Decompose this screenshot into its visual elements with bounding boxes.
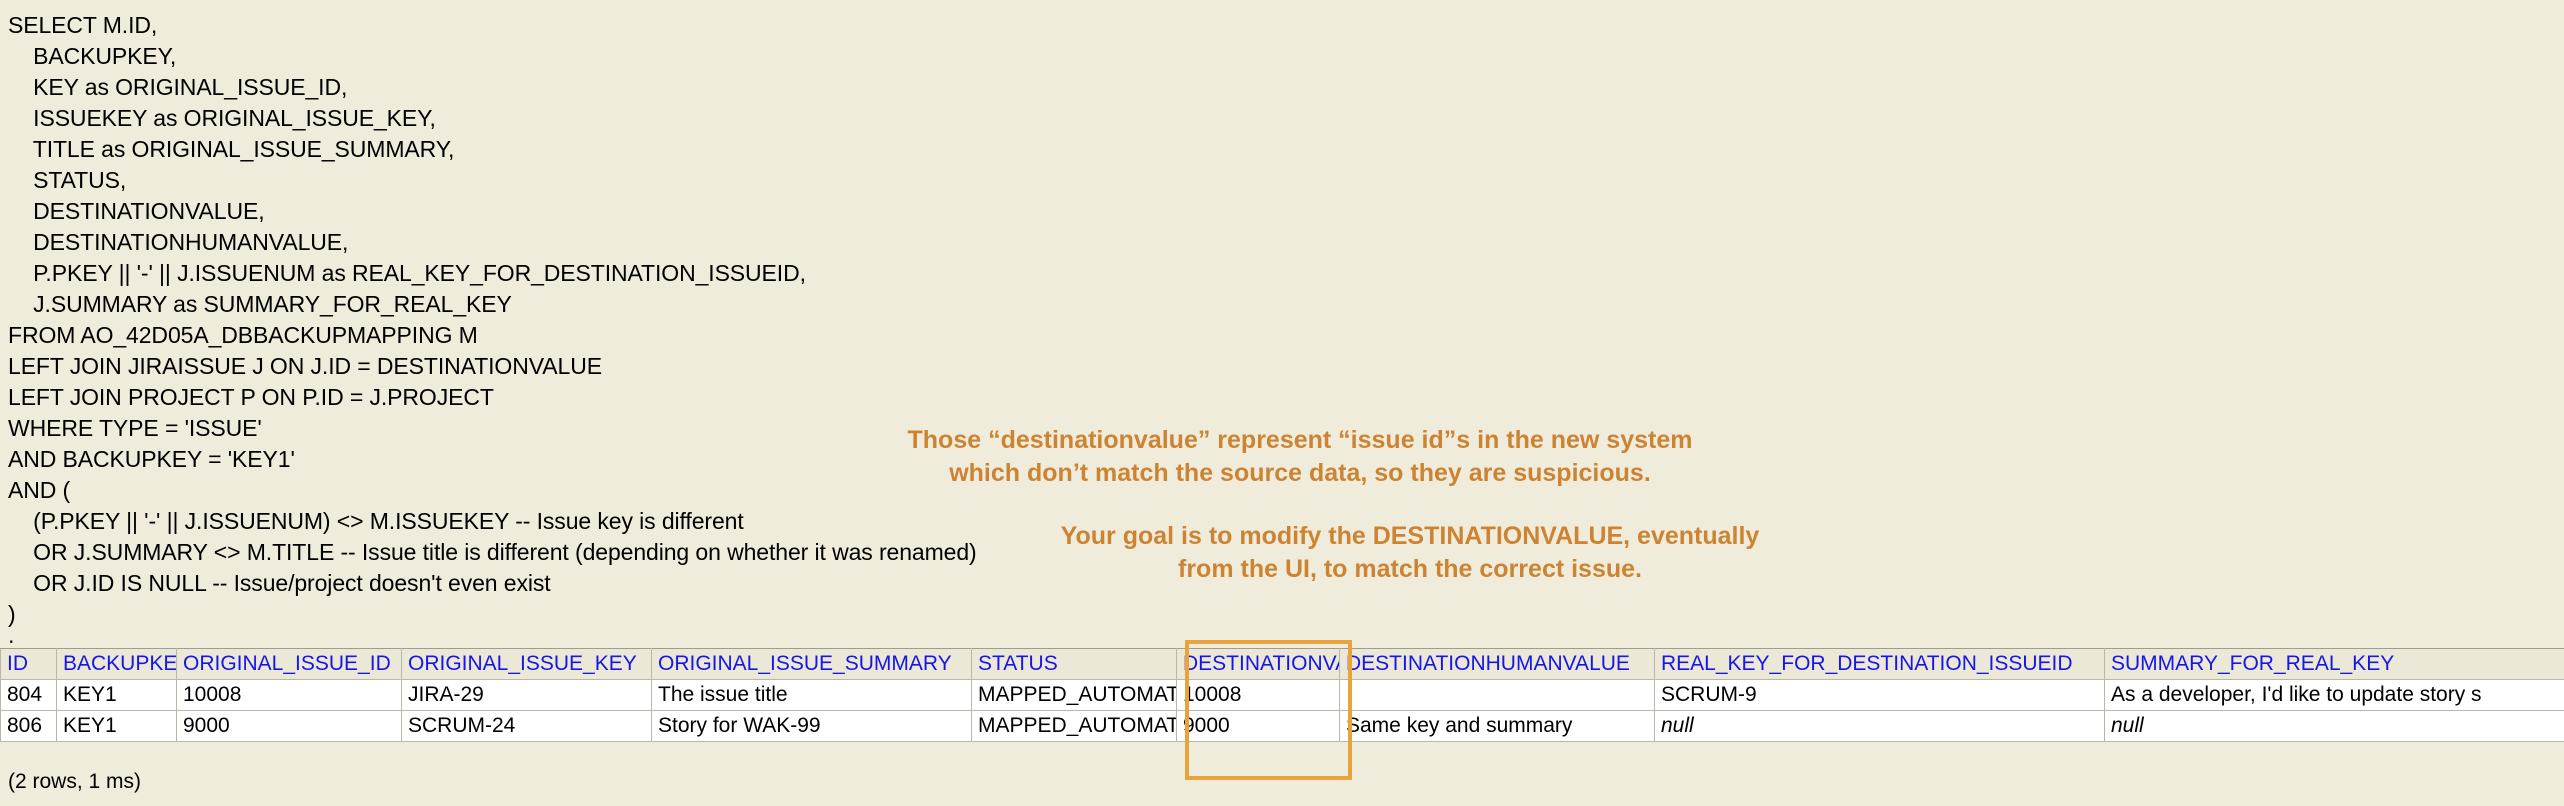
cell-destinationhumanvalue[interactable]: Same key and summary: [1340, 711, 1655, 742]
cell-summary-for-real-key[interactable]: null: [2105, 711, 2564, 742]
cell-status[interactable]: MAPPED_AUTOMATICALLY: [972, 711, 1177, 742]
cell-real-key-for-destination[interactable]: null: [1655, 711, 2105, 742]
sql-line: LEFT JOIN PROJECT P ON P.ID = J.PROJECT: [8, 382, 2564, 413]
cell-summary-for-real-key[interactable]: As a developer, I'd like to update story…: [2105, 680, 2564, 711]
cell-destinationhumanvalue[interactable]: [1340, 680, 1655, 711]
cell-id[interactable]: 806: [1, 711, 57, 742]
column-header-summary-for-real-key[interactable]: SUMMARY_FOR_REAL_KEY: [2105, 649, 2564, 680]
cell-original-issue-summary[interactable]: Story for WAK-99: [652, 711, 972, 742]
sql-line: BACKUPKEY,: [8, 41, 2564, 72]
cell-original-issue-summary[interactable]: The issue title: [652, 680, 972, 711]
column-header-backupkey[interactable]: BACKUPKEY: [57, 649, 177, 680]
sql-line: DESTINATIONVALUE,: [8, 196, 2564, 227]
sql-line: KEY as ORIGINAL_ISSUE_ID,: [8, 72, 2564, 103]
cell-original-issue-key[interactable]: SCRUM-24: [402, 711, 652, 742]
table-row[interactable]: 804 KEY1 10008 JIRA-29 The issue title M…: [1, 680, 2564, 711]
cell-destinationvalue[interactable]: 10008: [1177, 680, 1340, 711]
sql-line: TITLE as ORIGINAL_ISSUE_SUMMARY,: [8, 134, 2564, 165]
cell-id[interactable]: 804: [1, 680, 57, 711]
cell-backupkey[interactable]: KEY1: [57, 711, 177, 742]
column-header-destinationhumanvalue[interactable]: DESTINATIONHUMANVALUE: [1340, 649, 1655, 680]
sql-line: LEFT JOIN JIRAISSUE J ON J.ID = DESTINAT…: [8, 351, 2564, 382]
annotation-goal-note: Your goal is to modify the DESTINATIONVA…: [870, 520, 1950, 586]
cell-backupkey[interactable]: KEY1: [57, 680, 177, 711]
column-header-id[interactable]: ID: [1, 649, 57, 680]
cell-original-issue-id[interactable]: 10008: [177, 680, 402, 711]
sql-line: FROM AO_42D05A_DBBACKUPMAPPING M: [8, 320, 2564, 351]
sql-line: J.SUMMARY as SUMMARY_FOR_REAL_KEY: [8, 289, 2564, 320]
sql-line: P.PKEY || '-' || J.ISSUENUM as REAL_KEY_…: [8, 258, 2564, 289]
column-header-real-key-for-destination[interactable]: REAL_KEY_FOR_DESTINATION_ISSUEID: [1655, 649, 2105, 680]
cell-destinationvalue[interactable]: 9000: [1177, 711, 1340, 742]
sql-line: DESTINATIONHUMANVALUE,: [8, 227, 2564, 258]
annotation-suspicious-note: Those “destinationvalue” represent “issu…: [760, 424, 1840, 490]
sql-line: ): [8, 599, 2564, 630]
column-header-original-issue-id[interactable]: ORIGINAL_ISSUE_ID: [177, 649, 402, 680]
column-header-destinationvalue[interactable]: DESTINATIONVALUE: [1177, 649, 1340, 680]
sql-line: STATUS,: [8, 165, 2564, 196]
table-header-row: ID BACKUPKEY ORIGINAL_ISSUE_ID ORIGINAL_…: [1, 649, 2564, 680]
cell-original-issue-id[interactable]: 9000: [177, 711, 402, 742]
column-header-status[interactable]: STATUS: [972, 649, 1177, 680]
column-header-original-issue-summary[interactable]: ORIGINAL_ISSUE_SUMMARY: [652, 649, 972, 680]
results-grid: ID BACKUPKEY ORIGINAL_ISSUE_ID ORIGINAL_…: [0, 648, 2564, 742]
cell-real-key-for-destination[interactable]: SCRUM-9: [1655, 680, 2105, 711]
sql-line: ISSUEKEY as ORIGINAL_ISSUE_KEY,: [8, 103, 2564, 134]
column-header-original-issue-key[interactable]: ORIGINAL_ISSUE_KEY: [402, 649, 652, 680]
results-table: ID BACKUPKEY ORIGINAL_ISSUE_ID ORIGINAL_…: [0, 648, 2564, 742]
cell-original-issue-key[interactable]: JIRA-29: [402, 680, 652, 711]
sql-line: SELECT M.ID,: [8, 10, 2564, 41]
table-row[interactable]: 806 KEY1 9000 SCRUM-24 Story for WAK-99 …: [1, 711, 2564, 742]
row-count-status: (2 rows, 1 ms): [8, 770, 141, 794]
cell-status[interactable]: MAPPED_AUTOMATICALLY: [972, 680, 1177, 711]
